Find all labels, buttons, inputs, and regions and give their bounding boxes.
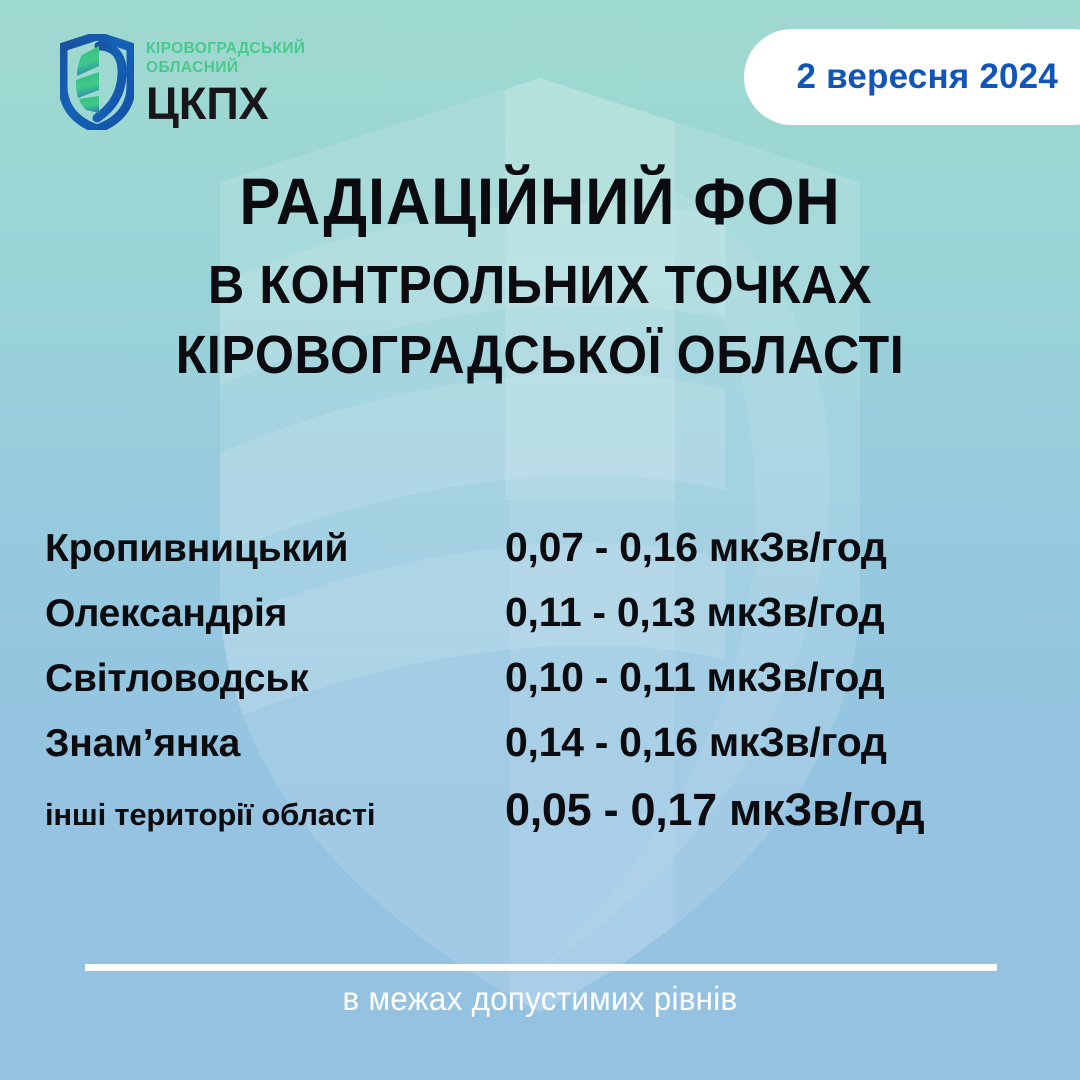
logo-line-2: ОБЛАСНИЙ: [146, 59, 305, 78]
footer-note: в межах допустимих рівнів: [27, 980, 1053, 1018]
logo-wordmark: КІРОВОГРАДСЬКИЙ ОБЛАСНИЙ ЦКПХ: [146, 36, 305, 127]
title-line-1: РАДІАЦІЙНИЙ ФОН: [38, 168, 1042, 234]
table-row: Кропивницький 0,07 - 0,16 мкЗв/год: [0, 524, 1080, 589]
reading-location: Кропивницький: [0, 527, 505, 571]
readings-table: Кропивницький 0,07 - 0,16 мкЗв/год Олекс…: [0, 524, 1080, 849]
reading-location: Олександрія: [0, 592, 505, 636]
reading-value: 0,07 - 0,16 мкЗв/год: [505, 524, 1080, 571]
title-line-3: КІРОВОГРАДСЬКОЇ ОБЛАСТІ: [38, 328, 1042, 382]
reading-location: Знам’янка: [0, 722, 505, 766]
date-badge: 2 вересня 2024: [744, 29, 1080, 125]
table-row: інші території області 0,05 - 0,17 мкЗв/…: [0, 784, 1080, 849]
organization-logo: КІРОВОГРАДСЬКИЙ ОБЛАСНИЙ ЦКПХ: [60, 34, 305, 130]
reading-location: інші території області: [0, 797, 505, 833]
title-line-2: В КОНТРОЛЬНИХ ТОЧКАХ: [38, 258, 1042, 312]
reading-value: 0,11 - 0,13 мкЗв/год: [505, 589, 1080, 636]
page-title: РАДІАЦІЙНИЙ ФОН В КОНТРОЛЬНИХ ТОЧКАХ КІР…: [0, 168, 1080, 382]
reading-value: 0,10 - 0,11 мкЗв/год: [505, 654, 1080, 701]
infographic-poster: КІРОВОГРАДСЬКИЙ ОБЛАСНИЙ ЦКПХ 2 вересня …: [0, 0, 1080, 1080]
date-badge-label: 2 вересня 2024: [796, 57, 1058, 97]
shield-logo-icon: [60, 34, 134, 130]
reading-location: Світловодськ: [0, 657, 505, 701]
reading-value: 0,05 - 0,17 мкЗв/год: [505, 784, 1080, 836]
logo-line-1: КІРОВОГРАДСЬКИЙ: [146, 40, 305, 59]
reading-value: 0,14 - 0,16 мкЗв/год: [505, 719, 1080, 766]
logo-abbreviation: ЦКПХ: [146, 80, 305, 127]
table-row: Олександрія 0,11 - 0,13 мкЗв/год: [0, 589, 1080, 654]
table-row: Знам’янка 0,14 - 0,16 мкЗв/год: [0, 719, 1080, 784]
footer-divider: [85, 964, 997, 971]
table-row: Світловодськ 0,10 - 0,11 мкЗв/год: [0, 654, 1080, 719]
